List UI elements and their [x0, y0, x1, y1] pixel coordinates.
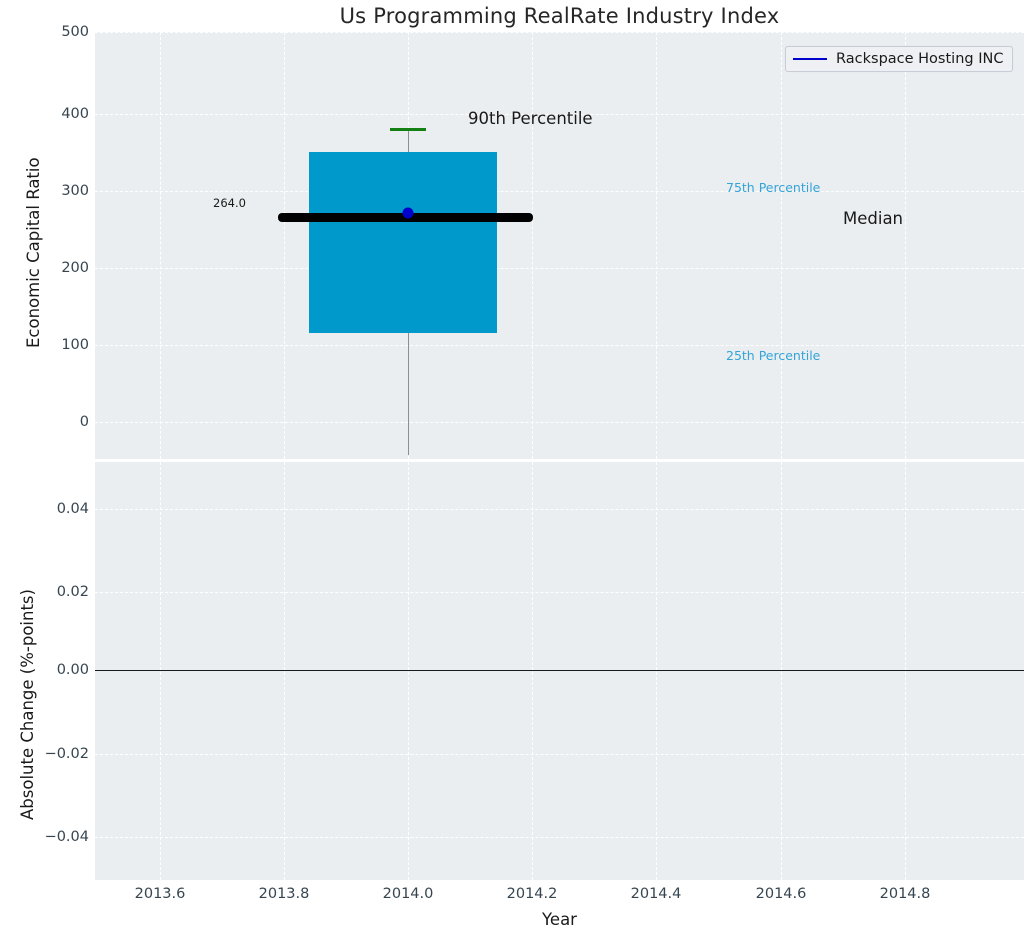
gridline-y-500	[95, 32, 1024, 33]
xtick-label-2014-0: 2014.0	[383, 886, 434, 902]
annotation-90th-percentile: 90th Percentile	[468, 109, 593, 128]
gridline-x-2014-6	[781, 32, 782, 459]
gridline-y-neg-0-04	[95, 837, 1024, 838]
annotation-median: Median	[843, 209, 903, 228]
gridline-y-0	[95, 422, 1024, 423]
gridline-x-2014-8	[905, 32, 906, 459]
ytick-label-500: 500	[0, 24, 89, 40]
zero-reference-line	[95, 670, 1024, 671]
ytick-label-0: 0	[0, 414, 89, 430]
plot-panel-economic-capital-ratio: 90th Percentile 75th Percentile Median 2…	[95, 32, 1024, 459]
annotation-75th-percentile: 75th Percentile	[726, 180, 820, 195]
gridline-y-0-04	[95, 509, 1024, 510]
ytick-label-neg-0-04: −0.04	[0, 829, 89, 845]
gridline-x-2014-4	[656, 32, 657, 459]
ytick-label-100: 100	[0, 337, 89, 353]
y-axis-label-bottom: Absolute Change (%-points)	[18, 589, 37, 820]
series-marker-rackspace-hosting-inc[interactable]	[403, 208, 414, 219]
chart-figure: Us Programming RealRate Industry Index 9…	[0, 0, 1034, 942]
gridline-x-2014-6-lower	[781, 462, 782, 880]
xtick-label-2014-4: 2014.4	[631, 886, 682, 902]
median-value-label: 264.0	[213, 196, 246, 210]
gridline-x-2014-0-lower	[408, 462, 409, 880]
gridline-x-2013-8	[284, 32, 285, 459]
gridline-x-2014-2	[532, 32, 533, 459]
ytick-label-300: 300	[0, 183, 89, 199]
legend-line-swatch	[793, 58, 827, 60]
gridline-y-0-02	[95, 592, 1024, 593]
ytick-label-0-02: 0.02	[0, 584, 89, 600]
ytick-label-0-04: 0.04	[0, 501, 89, 517]
plot-panel-absolute-change	[95, 462, 1024, 880]
xtick-label-2013-8: 2013.8	[259, 886, 310, 902]
ytick-label-400: 400	[0, 106, 89, 122]
gridline-x-2014-8-lower	[905, 462, 906, 880]
annotation-25th-percentile: 25th Percentile	[726, 348, 820, 363]
gridline-x-2014-2-lower	[532, 462, 533, 880]
gridline-y-neg-0-02	[95, 754, 1024, 755]
legend[interactable]: Rackspace Hosting INC	[785, 46, 1013, 72]
ytick-label-neg-0-02: −0.02	[0, 746, 89, 762]
page-title: Us Programming RealRate Industry Index	[95, 4, 1024, 28]
y-axis-label-top: Economic Capital Ratio	[24, 157, 43, 348]
gridline-x-2013-8-lower	[284, 462, 285, 880]
gridline-y-200	[95, 268, 1024, 269]
ytick-label-0-00: 0.00	[0, 662, 89, 678]
gridline-x-2013-6	[160, 32, 161, 459]
xtick-label-2014-8: 2014.8	[880, 886, 931, 902]
gridline-x-2014-4-lower	[656, 462, 657, 880]
gridline-x-2013-6-lower	[160, 462, 161, 880]
box-interquartile-range	[309, 152, 497, 333]
gridline-y-100	[95, 345, 1024, 346]
x-axis-label: Year	[95, 910, 1024, 929]
legend-item-label: Rackspace Hosting INC	[836, 51, 1003, 67]
whisker-cap-90th-percentile	[390, 128, 426, 131]
xtick-label-2014-2: 2014.2	[507, 886, 558, 902]
ytick-label-200: 200	[0, 260, 89, 276]
xtick-label-2013-6: 2013.6	[135, 886, 186, 902]
xtick-label-2014-6: 2014.6	[756, 886, 807, 902]
gridline-y-300	[95, 191, 1024, 192]
